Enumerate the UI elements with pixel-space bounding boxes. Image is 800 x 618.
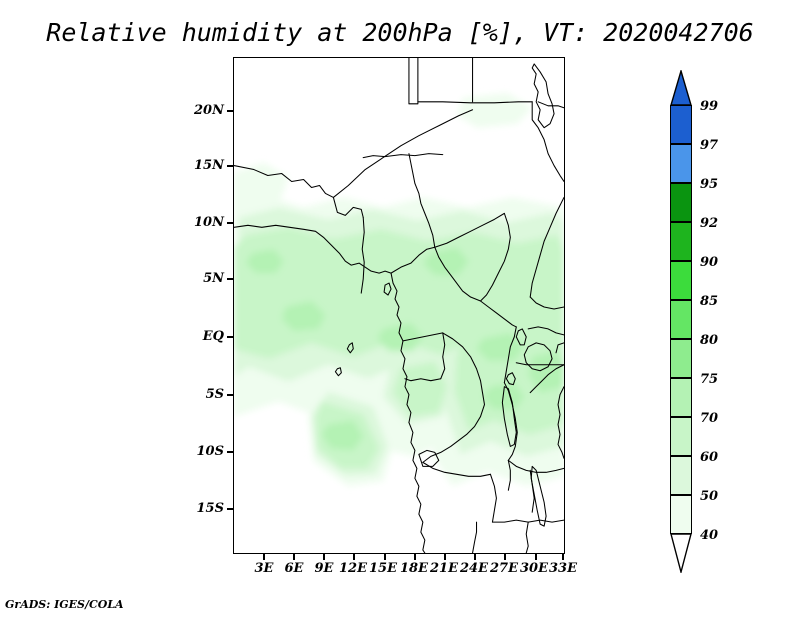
colorbar-segment-90[interactable] [670, 261, 692, 300]
colorbar-segment-92[interactable] [670, 222, 692, 261]
x-tick [504, 554, 506, 560]
map-plot-area[interactable] [233, 57, 565, 554]
y-axis-label: 5N [182, 272, 224, 285]
colorbar-segment-50[interactable] [670, 495, 692, 534]
y-axis-label: 15S [182, 502, 224, 515]
colorbar-label-80: 80 [700, 334, 746, 347]
colorbar-label-92: 92 [700, 217, 746, 230]
y-axis-label: 5S [182, 388, 224, 401]
colorbar-top-cap [670, 70, 692, 106]
grads-attribution: GrADS: IGES/COLA [5, 598, 124, 611]
border-chad-niger [333, 110, 472, 198]
colorbar-segment-97[interactable] [670, 144, 692, 183]
colorbar[interactable]: 99 97 95 92 90 85 80 75 70 60 50 40 [662, 70, 782, 560]
y-axis-label: 10S [182, 445, 224, 458]
y-axis-label: 15N [182, 159, 224, 172]
x-tick [323, 554, 325, 560]
x-tick [353, 554, 355, 560]
x-tick [414, 554, 416, 560]
border-sudan-ethiopia [532, 102, 564, 182]
x-tick [474, 554, 476, 560]
y-axis-label: 10N [182, 216, 224, 229]
colorbar-segment-70[interactable] [670, 417, 692, 456]
map-canvas [234, 58, 564, 553]
humidity-shading-layer [234, 93, 564, 486]
x-tick [384, 554, 386, 560]
border-libya-chad [409, 58, 418, 104]
x-tick [535, 554, 537, 560]
colorbar-segment-95[interactable] [670, 183, 692, 222]
x-tick [293, 554, 295, 560]
x-axis-label: 33E [543, 562, 583, 575]
colorbar-segment-75[interactable] [670, 378, 692, 417]
x-tick [444, 554, 446, 560]
colorbar-segment-85[interactable] [670, 300, 692, 339]
colorbar-label-50: 50 [700, 490, 746, 503]
border-redsea-coast [532, 64, 554, 128]
y-axis-label: EQ [182, 330, 224, 343]
grads-figure: Relative humidity at 200hPa [%], VT: 202… [0, 0, 800, 618]
colorbar-segment-80[interactable] [670, 339, 692, 378]
border-chad-sudan [363, 154, 443, 158]
colorbar-label-75: 75 [700, 373, 746, 386]
colorbar-segment-99[interactable] [670, 105, 692, 144]
colorbar-label-60: 60 [700, 451, 746, 464]
colorbar-label-70: 70 [700, 412, 746, 425]
x-tick [263, 554, 265, 560]
border-bottom-zambia [473, 522, 477, 553]
colorbar-label-97: 97 [700, 139, 746, 152]
colorbar-segment-60[interactable] [670, 456, 692, 495]
x-tick [562, 554, 564, 560]
colorbar-label-90: 90 [700, 256, 746, 269]
colorbar-label-99: 99 [700, 100, 746, 113]
colorbar-label-85: 85 [700, 295, 746, 308]
colorbar-label-95: 95 [700, 178, 746, 191]
border-angola-drc-e [490, 474, 496, 522]
colorbar-label-40: 40 [700, 529, 746, 542]
rh-band-40f [458, 93, 533, 128]
colorbar-bottom-cap [670, 533, 692, 573]
border-zim-zam [526, 522, 528, 553]
page-title: Relative humidity at 200hPa [%], VT: 202… [0, 18, 800, 47]
y-axis-label: 20N [182, 104, 224, 117]
